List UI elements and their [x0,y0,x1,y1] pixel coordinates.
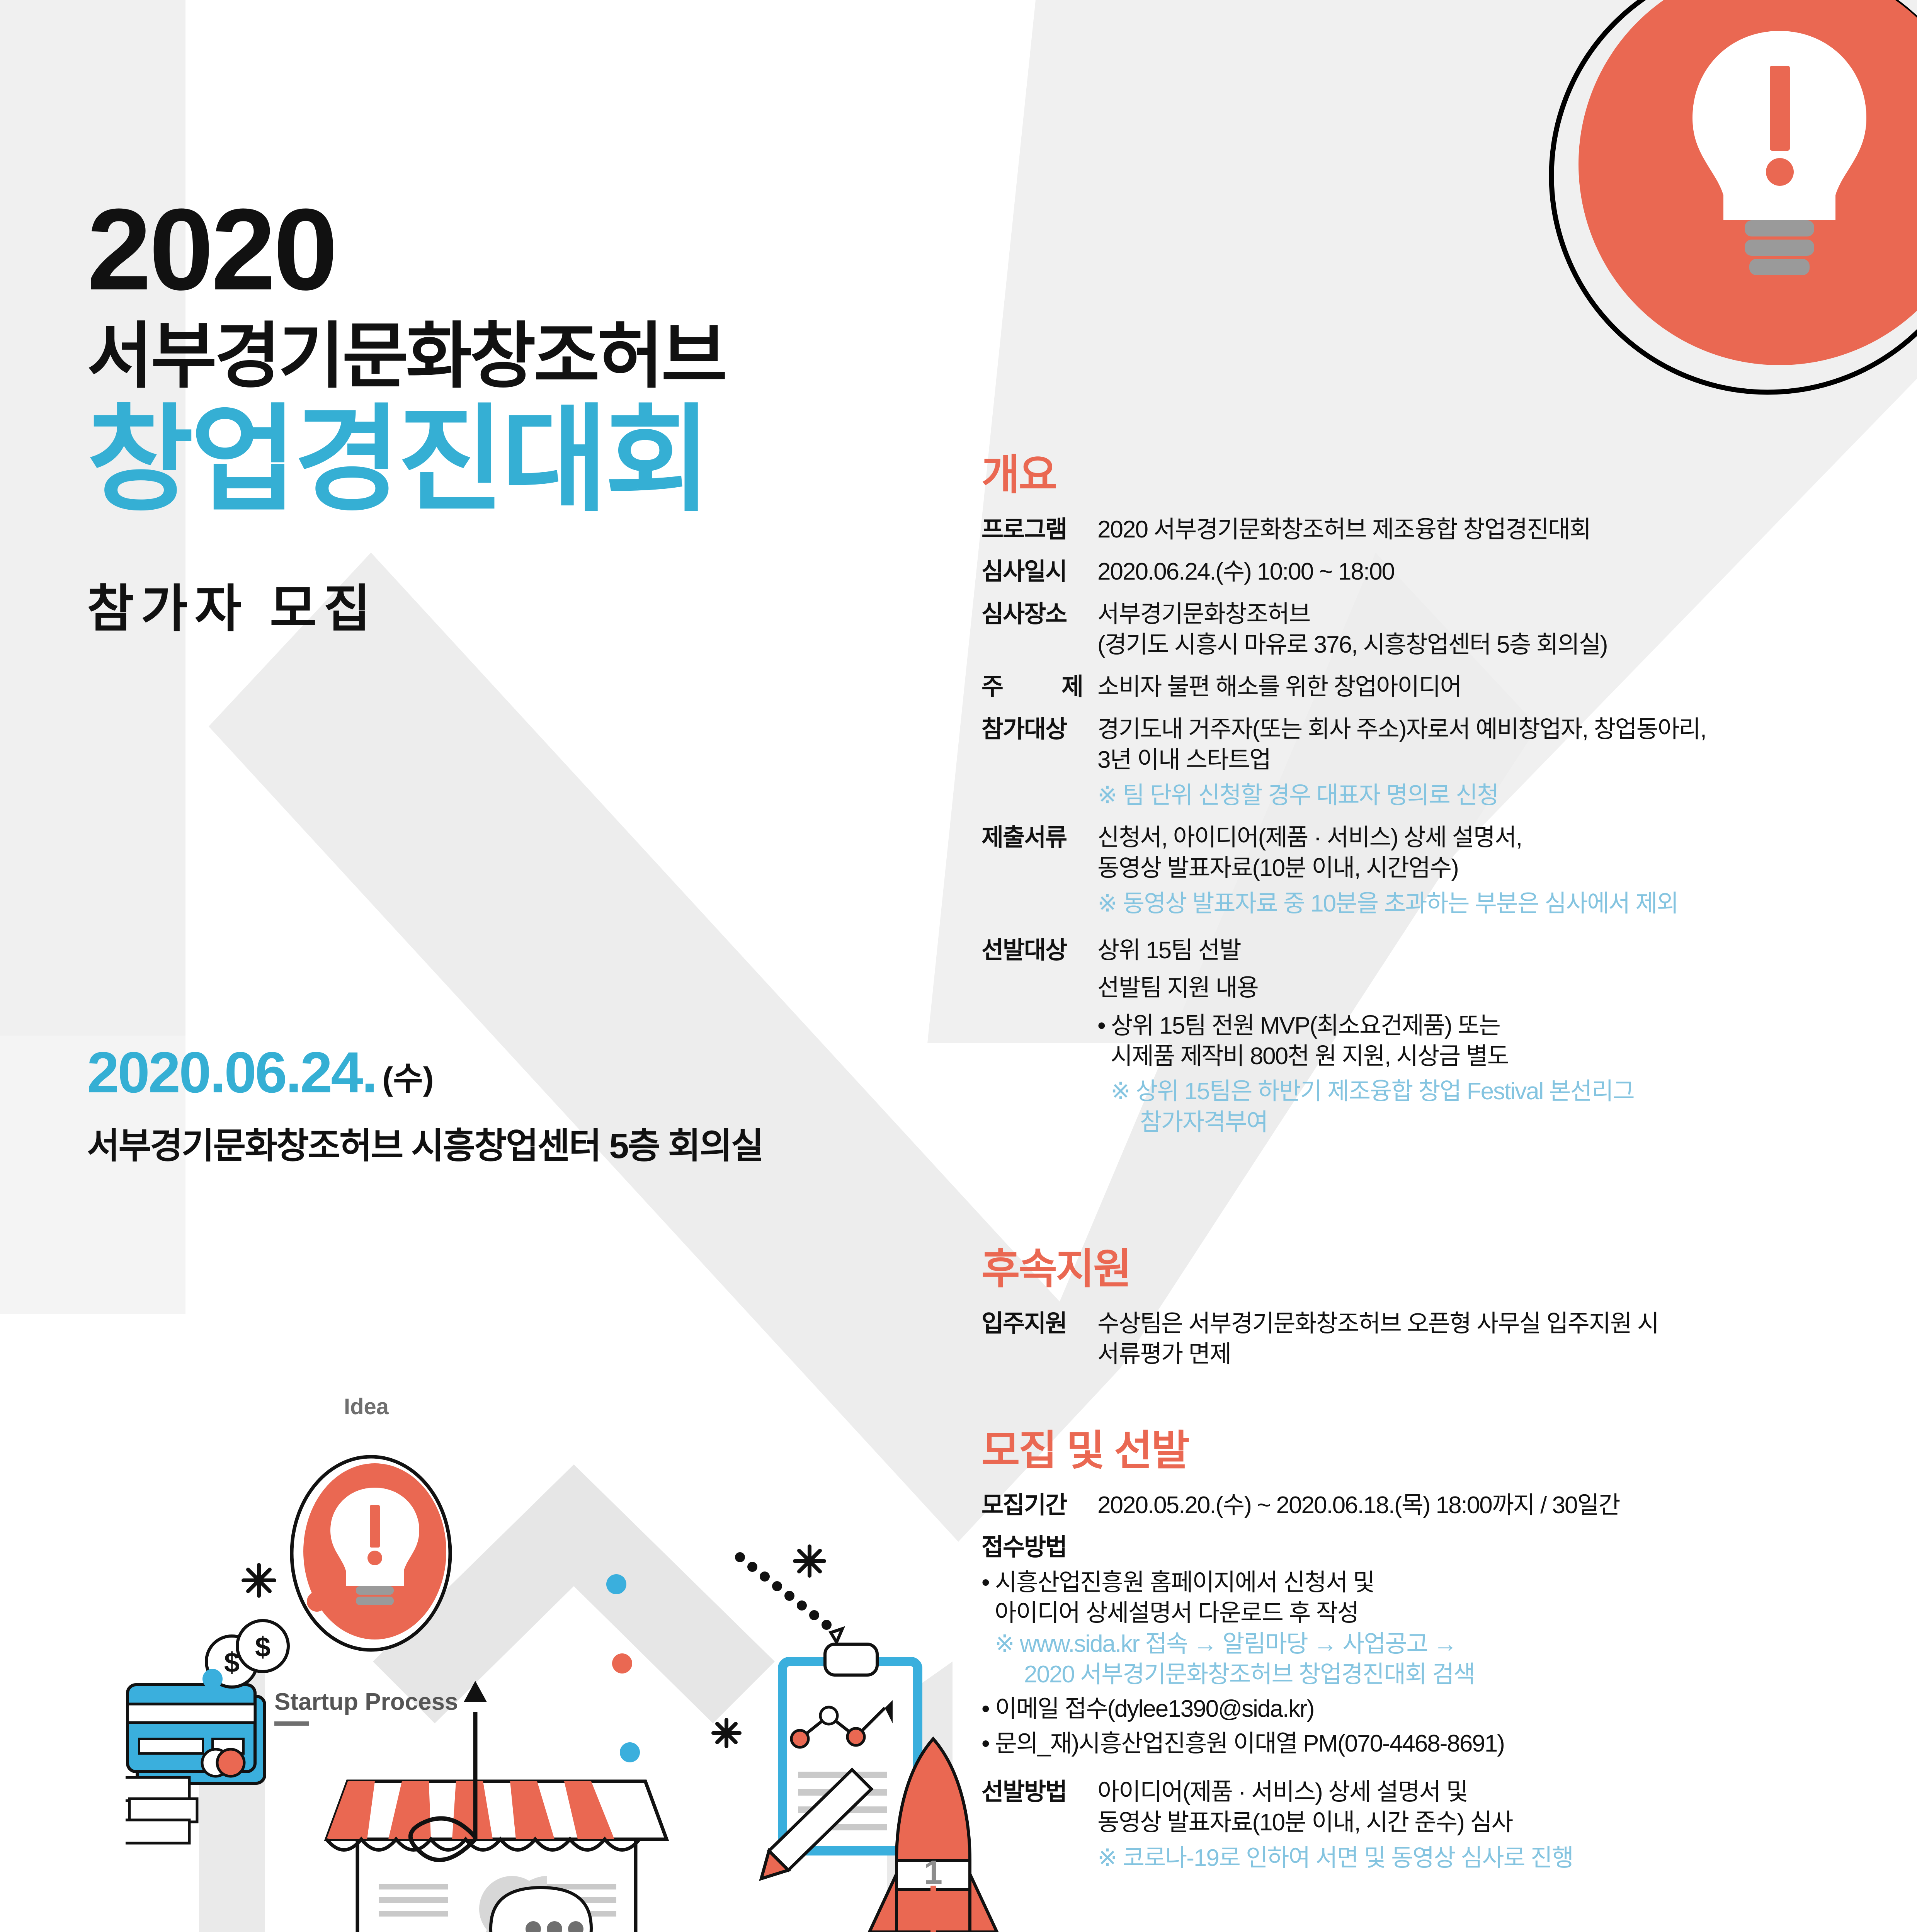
overview-venue-line2: (경기도 시흥시 마유로 376, 시흥창업센터 5층 회의실) [1097,629,1863,660]
hero-column: 2020 서부경기문화창조허브 창업경진대회 참가자 모집 2020.06.24… [87,0,937,1932]
followup-line2: 서류평가 면제 [1097,1339,1863,1369]
overview-value-datetime: 2020.06.24.(수) 10:00 ~ 18:00 [1097,556,1863,587]
overview-value-theme: 소비자 불편 해소를 위한 창업아이디어 [1097,672,1863,702]
startup-process-illustration: Idea Startup Process [126,1391,1026,1932]
overview-program-line1: 2020 서부경기문화창조허브 제조융합 창업경진대회 [1097,514,1863,545]
svg-text:$: $ [255,1632,270,1663]
overview-row-theme: 주 제 소비자 불편 해소를 위한 창업아이디어 [981,672,1863,702]
selection-line2: 선발팀 지원 내용 [1097,973,1863,1003]
bulb-exclaim-dot [1766,158,1794,186]
recruit-method-note: ※ 코로나-19로 인하여 서면 및 동영상 심사로 진행 [1097,1843,1863,1873]
followup-line1: 수상팀은 서부경기문화창조허브 오픈형 사무실 입주지원 시 [1097,1308,1863,1339]
recruit-method-line1: 아이디어(제품 · 서비스) 상세 설명서 및 [1097,1777,1863,1807]
recruit-heading: 모집 및 선발 [981,1430,1863,1471]
selection-bullet1: • 상위 15팀 전원 MVP(최소요건제품) 또는 [1097,1010,1863,1041]
overview-venue-line1: 서부경기문화창조허브 [1097,599,1863,629]
recruit-key-method: 선발방법 [981,1777,1097,1873]
bulb-base-3 [1749,259,1810,275]
recruit-method-line2: 동영상 발표자료(10분 이내, 시간 준수) 심사 [1097,1807,1863,1838]
overview-row-eligibility: 참가대상 경기도내 거주자(또는 회사 주소)자로서 예비창업자, 창업동아리,… [981,714,1863,811]
apply-bullet-1-note-cont: 2020 서부경기문화창조허브 창업경진대회 검색 [981,1659,1863,1690]
overview-row-datetime: 심사일시 2020.06.24.(수) 10:00 ~ 18:00 [981,556,1863,587]
apply-bullet-1: • 시흥산업진흥원 홈페이지에서 신청서 및 [981,1567,1863,1598]
followup-row: 입주지원 수상팀은 서부경기문화창조허브 오픈형 사무실 입주지원 시 서류평가… [981,1308,1863,1370]
overview-key-theme-a: 주 [981,672,1004,702]
illus-idea-label: Idea [344,1394,389,1419]
recruit-row-period: 모집기간 2020.05.20.(수) ~ 2020.06.18.(목) 18:… [981,1490,1863,1520]
recruit-value-period: 2020.05.20.(수) ~ 2020.06.18.(목) 18:00까지 … [1097,1490,1863,1520]
illus-banknotes-icon [126,1777,197,1843]
selection-note1-cont: 참가자격부여 [1097,1107,1863,1138]
overview-eligibility-line2: 3년 이내 스타트업 [1097,745,1863,775]
illus-dotted-arrow-right [735,1552,842,1642]
overview-key-eligibility: 참가대상 [981,714,1097,811]
overview-datetime-line1: 2020.06.24.(수) 10:00 ~ 18:00 [1097,556,1863,587]
apply-bullet-2: • 이메일 접수(dylee1390@sida.kr) [981,1694,1863,1724]
overview-theme-line1: 소비자 불편 해소를 위한 창업아이디어 [1097,672,1863,702]
recruit-value-method: 아이디어(제품 · 서비스) 상세 설명서 및 동영상 발표자료(10분 이내,… [1097,1777,1863,1873]
hero-title: 창업경진대회 [87,402,708,518]
followup-section: 후속지원 입주지원 수상팀은 서부경기문화창조허브 오픈형 사무실 입주지원 시… [981,1248,1863,1381]
followup-value: 수상팀은 서부경기문화창조허브 오픈형 사무실 입주지원 시 서류평가 면제 [1097,1308,1863,1370]
followup-key: 입주지원 [981,1308,1097,1370]
overview-key-theme-b: 제 [1061,672,1084,702]
apply-bullet-1-cont: 아이디어 상세설명서 다운로드 후 작성 [981,1598,1863,1628]
illus-process-label: Startup Process [274,1689,458,1715]
hero-subtitle: 서부경기문화창조허브 [87,321,725,393]
bulb-base-2 [1745,240,1814,256]
apply-bullet-3: • 문의_재)시흥산업진흥원 이대열 PM(070-4468-8691) [981,1728,1863,1759]
bulb-exclaim-bar [1770,66,1790,151]
illus-storefront-icon [327,1781,667,1932]
apply-bullet-1-note: ※ www.sida.kr 접속 → 알림마당 → 사업공고 → [981,1629,1863,1659]
overview-key-program: 프로그램 [981,514,1097,545]
illus-idea-base2 [356,1597,394,1605]
overview-heading: 개요 [981,454,1863,496]
overview-key-venue: 심사장소 [981,599,1097,660]
selection-bullet1-cont: 시제품 제작비 800천 원 지원, 시상금 별도 [1097,1041,1863,1071]
overview-row-documents: 제출서류 신청서, 아이디어(제품 · 서비스) 상세 설명서, 동영상 발표자… [981,822,1863,919]
overview-eligibility-line1: 경기도내 거주자(또는 회사 주소)자로서 예비창업자, 창업동아리, [1097,714,1863,745]
hero-year: 2020 [87,191,335,307]
overview-value-documents: 신청서, 아이디어(제품 · 서비스) 상세 설명서, 동영상 발표자료(10분… [1097,822,1863,919]
overview-value-program: 2020 서부경기문화창조허브 제조융합 창업경진대회 [1097,514,1863,545]
lightbulb-badge [1536,0,1917,410]
bulb-base-1 [1745,220,1814,236]
selection-line1: 상위 15팀 선발 [1097,935,1863,966]
overview-value-selection: 상위 15팀 선발 선발팀 지원 내용 • 상위 15팀 전원 MVP(최소요건… [1097,935,1863,1138]
hero-date: 2020.06.24. [87,1040,376,1105]
hero-place: 서부경기문화창조허브 시흥창업센터 5층 회의실 [87,1128,763,1164]
hero-date-line: 2020.06.24.(수) [87,1043,434,1101]
overview-row-selection: 선발대상 상위 15팀 선발 선발팀 지원 내용 • 상위 15팀 전원 MVP… [981,935,1863,1138]
overview-section: 개요 프로그램 2020 서부경기문화창조허브 제조융합 창업경진대회 심사일시… [981,454,1863,1149]
overview-row-program: 프로그램 2020 서부경기문화창조허브 제조융합 창업경진대회 [981,514,1863,545]
illus-idea-exclaim-dot [367,1551,382,1565]
recruit-period-value: 2020.05.20.(수) ~ 2020.06.18.(목) 18:00까지 … [1097,1490,1863,1520]
poster-root: 2020 서부경기문화창조허브 창업경진대회 참가자 모집 2020.06.24… [0,0,1917,1932]
illustration-svg: Idea Startup Process [126,1391,1026,1932]
illus-idea-base1 [356,1586,394,1595]
hero-tagline: 참가자 모집 [87,583,378,634]
recruit-section: 모집 및 선발 모집기간 2020.05.20.(수) ~ 2020.06.18… [981,1430,1863,1885]
recruit-row-method: 선발방법 아이디어(제품 · 서비스) 상세 설명서 및 동영상 발표자료(10… [981,1777,1863,1873]
apply-method-title: 접수방법 [981,1532,1863,1563]
recruit-key-period: 모집기간 [981,1490,1097,1520]
illus-process-underline [274,1721,309,1726]
overview-key-selection: 선발대상 [981,935,1097,1138]
illus-credit-card-icon [128,1685,265,1783]
overview-key-datetime: 심사일시 [981,556,1097,587]
followup-heading: 후속지원 [981,1248,1863,1290]
lightbulb-badge-svg [1536,0,1917,410]
overview-key-documents: 제출서류 [981,822,1097,919]
overview-eligibility-note: ※ 팀 단위 신청할 경우 대표자 명의로 신청 [1097,780,1863,811]
overview-value-venue: 서부경기문화창조허브 (경기도 시흥시 마유로 376, 시흥창업센터 5층 회… [1097,599,1863,660]
illus-rocket-number: 1 [924,1854,942,1891]
overview-documents-line2: 동영상 발표자료(10분 이내, 시간엄수) [1097,853,1863,883]
apply-method-list: • 시흥산업진흥원 홈페이지에서 신청서 및 아이디어 상세설명서 다운로드 후… [981,1567,1863,1759]
overview-row-venue: 심사장소 서부경기문화창조허브 (경기도 시흥시 마유로 376, 시흥창업센터… [981,599,1863,660]
overview-key-theme: 주 제 [981,672,1097,702]
overview-value-eligibility: 경기도내 거주자(또는 회사 주소)자로서 예비창업자, 창업동아리, 3년 이… [1097,714,1863,811]
illus-idea-exclaim [370,1505,380,1548]
overview-documents-line1: 신청서, 아이디어(제품 · 서비스) 상세 설명서, [1097,822,1863,853]
overview-documents-note: ※ 동영상 발표자료 중 10분을 초과하는 부분은 심사에서 제외 [1097,888,1863,919]
selection-note1: ※ 상위 15팀은 하반기 제조융합 창업 Festival 본선리그 [1097,1076,1863,1107]
hero-day-of-week: (수) [382,1061,434,1097]
